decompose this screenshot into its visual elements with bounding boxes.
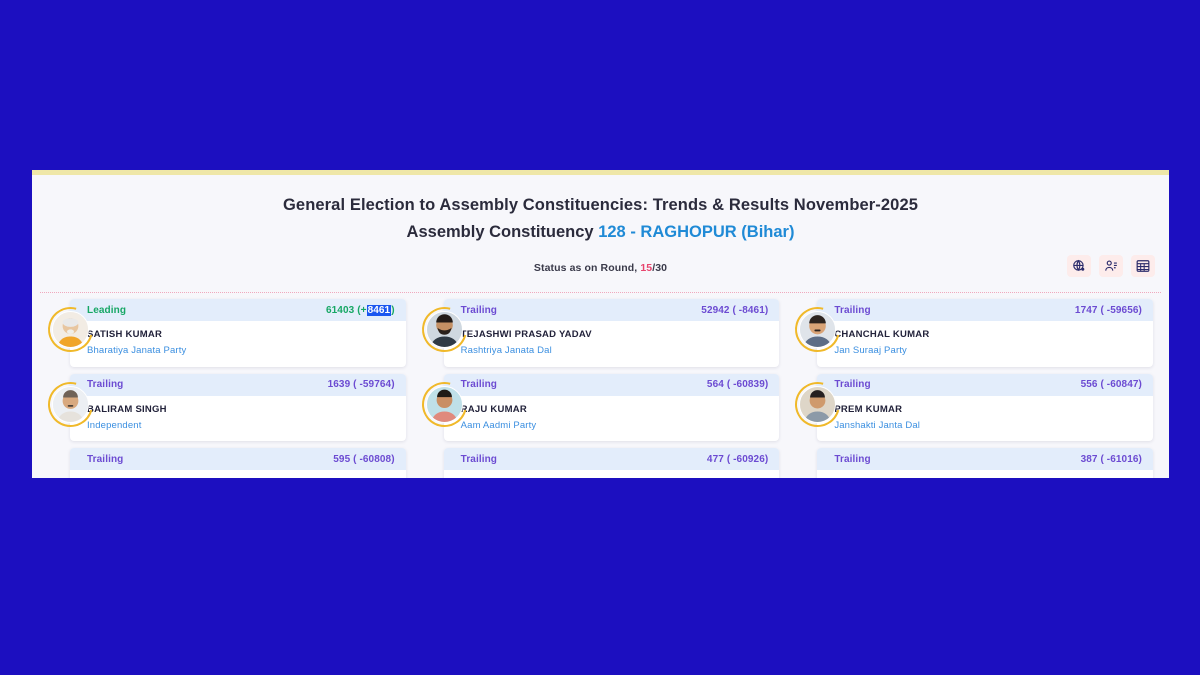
globe-icon[interactable] [1067,255,1091,277]
card-header: Trailing 1639 ( -59764) [70,374,406,396]
candidate-party: Bharatiya Janata Party [87,345,396,357]
status-badge: Trailing [834,379,870,390]
round-label: Status as on Round, [534,262,637,274]
candidate-party: Janshakti Janta Dal [834,420,1143,432]
candidate-cell: Trailing 556 ( -60847) PREM KUMAR Jansha… [787,374,1161,449]
constituency-name: RAGHOPUR [640,223,736,241]
card-header: Trailing 477 ( -60926) [444,448,780,470]
panel-toolbar [1067,255,1155,277]
constituency-prefix: Assembly Constituency [407,223,594,241]
card-header: Trailing 564 ( -60839) [444,374,780,396]
candidate-card[interactable]: Trailing 1639 ( -59764) BALIRAM SINGH In… [70,374,406,442]
card-header: Trailing 595 ( -60808) [70,448,406,470]
panel-header: General Election to Assembly Constituenc… [32,175,1169,274]
vote-count: 564 ( -60839) [707,379,768,390]
card-body: SATISH KUMAR Bharatiya Janata Party [70,321,406,367]
avatar-photo [799,386,836,423]
vote-count: 477 ( -60926) [707,454,768,465]
avatar-photo [52,311,89,348]
candidate-party: Rashtriya Janata Dal [461,345,770,357]
avatar-photo [52,386,89,423]
status-badge: Trailing [87,454,123,465]
header-divider [40,292,1161,293]
candidate-card[interactable]: Trailing 556 ( -60847) PREM KUMAR Jansha… [817,374,1153,442]
vote-count: 1639 ( -59764) [328,379,395,390]
candidate-name: BALIRAM SINGH [87,404,396,416]
candidate-party: Jan Suraaj Party [834,345,1143,357]
constituency-number: 128 [598,223,626,241]
round-total: 30 [655,262,667,274]
vote-count: 61403 (+8461) [326,305,395,316]
candidate-party: Independent [87,420,396,432]
status-badge: Trailing [87,379,123,390]
page-title: General Election to Assembly Constituenc… [32,193,1169,219]
candidate-cell: Trailing 387 ( -61016) [787,448,1161,478]
card-body: BALIRAM SINGH Independent [70,396,406,442]
card-header: Trailing 387 ( -61016) [817,448,1153,470]
margin-value: -60839 [733,379,765,390]
status-badge: Trailing [461,454,497,465]
candidate-cell: Leading 61403 (+8461) SATISH KUMAR Bhara… [40,299,414,374]
vote-count: 387 ( -61016) [1081,454,1142,465]
candidate-grid: Leading 61403 (+8461) SATISH KUMAR Bhara… [32,299,1169,478]
margin-value: -59764 [359,379,391,390]
candidate-name: RAJU KUMAR [461,404,770,416]
avatar [795,307,840,352]
constituency-title: Assembly Constituency 128 - RAGHOPUR (Bi… [32,220,1169,246]
candidate-cell: Trailing 595 ( -60808) [40,448,414,478]
vote-count: 1747 ( -59656) [1075,305,1142,316]
status-badge: Trailing [461,379,497,390]
candidate-card[interactable]: Leading 61403 (+8461) SATISH KUMAR Bhara… [70,299,406,367]
margin-value: -60926 [733,454,765,465]
avatar-photo [426,386,463,423]
status-badge: Trailing [461,305,497,316]
candidate-card[interactable]: Trailing 595 ( -60808) [70,448,406,478]
candidate-cell: Trailing 1639 ( -59764) BALIRAM SINGH In… [40,374,414,449]
margin-value: -8461 [739,305,765,316]
margin-value: -60808 [359,454,391,465]
vote-count: 595 ( -60808) [333,454,394,465]
avatar [422,307,467,352]
candidate-card[interactable]: Trailing 564 ( -60839) RAJU KUMAR Aam Aa… [444,374,780,442]
status-badge: Trailing [834,305,870,316]
avatar [48,307,93,352]
margin-value: -60847 [1107,379,1139,390]
card-header: Trailing 556 ( -60847) [817,374,1153,396]
card-header: Trailing 1747 ( -59656) [817,299,1153,321]
candidate-cell: Trailing 1747 ( -59656) CHANCHAL KUMAR J… [787,299,1161,374]
round-status: Status as on Round, 15/30 [32,262,1169,274]
margin-value: -59656 [1107,305,1139,316]
card-body: RAJU KUMAR Aam Aadmi Party [444,396,780,442]
candidate-name: PREM KUMAR [834,404,1143,416]
vote-count: 556 ( -60847) [1081,379,1142,390]
candidate-card[interactable]: Trailing 477 ( -60926) [444,448,780,478]
candidate-cell: Trailing 564 ( -60839) RAJU KUMAR Aam Aa… [414,374,788,449]
status-badge: Leading [87,305,126,316]
results-panel: General Election to Assembly Constituenc… [32,170,1169,478]
candidate-list-icon[interactable] [1099,255,1123,277]
candidate-card[interactable]: Trailing 52942 ( -8461) TEJASHWI PRASAD … [444,299,780,367]
state-label: (Bihar) [741,223,794,241]
avatar [795,382,840,427]
candidate-name: CHANCHAL KUMAR [834,329,1143,341]
candidate-name: TEJASHWI PRASAD YADAV [461,329,770,341]
round-current: 15 [640,262,652,274]
constituency-dash: - [630,223,636,241]
screen-root: General Election to Assembly Constituenc… [0,0,1200,675]
status-badge: Trailing [834,454,870,465]
candidate-card[interactable]: Trailing 1747 ( -59656) CHANCHAL KUMAR J… [817,299,1153,367]
avatar [48,382,93,427]
candidate-cell: Trailing 477 ( -60926) [414,448,788,478]
margin-value: -61016 [1107,454,1139,465]
grid-table-icon[interactable] [1131,255,1155,277]
candidate-party: Aam Aadmi Party [461,420,770,432]
vote-count: 52942 ( -8461) [701,305,768,316]
card-body: TEJASHWI PRASAD YADAV Rashtriya Janata D… [444,321,780,367]
candidate-cell: Trailing 52942 ( -8461) TEJASHWI PRASAD … [414,299,788,374]
candidate-card[interactable]: Trailing 387 ( -61016) [817,448,1153,478]
card-header: Leading 61403 (+8461) [70,299,406,321]
margin-value: 8461 [367,305,392,316]
avatar-photo [426,311,463,348]
avatar [422,382,467,427]
card-body: CHANCHAL KUMAR Jan Suraaj Party [817,321,1153,367]
card-header: Trailing 52942 ( -8461) [444,299,780,321]
card-body: PREM KUMAR Janshakti Janta Dal [817,396,1153,442]
candidate-name: SATISH KUMAR [87,329,396,341]
